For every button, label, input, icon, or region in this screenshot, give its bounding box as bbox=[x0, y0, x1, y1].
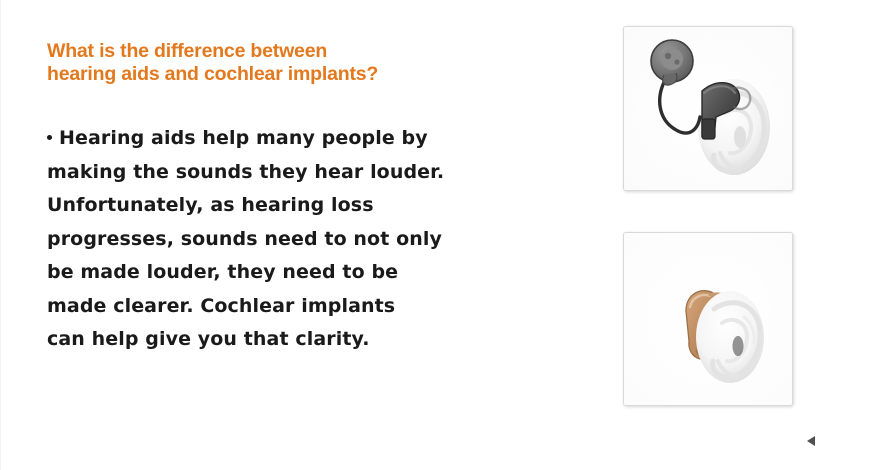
cochlear-implant-illustration bbox=[624, 27, 792, 190]
body-paragraph: Hearing aids help many people by making … bbox=[47, 122, 607, 357]
slide-title: What is the difference between hearing a… bbox=[47, 40, 587, 86]
image-cochlear-implant bbox=[623, 26, 793, 191]
slide-canvas: What is the difference between hearing a… bbox=[0, 0, 870, 470]
body-paragraph-text: Hearing aids help many people by making … bbox=[47, 127, 444, 350]
image-hearing-aid bbox=[623, 232, 793, 406]
hearing-aid-illustration bbox=[624, 233, 792, 405]
bullet-icon bbox=[47, 135, 52, 140]
body-text-block: Hearing aids help many people by making … bbox=[47, 122, 607, 357]
triangle-left-icon[interactable] bbox=[807, 436, 815, 446]
